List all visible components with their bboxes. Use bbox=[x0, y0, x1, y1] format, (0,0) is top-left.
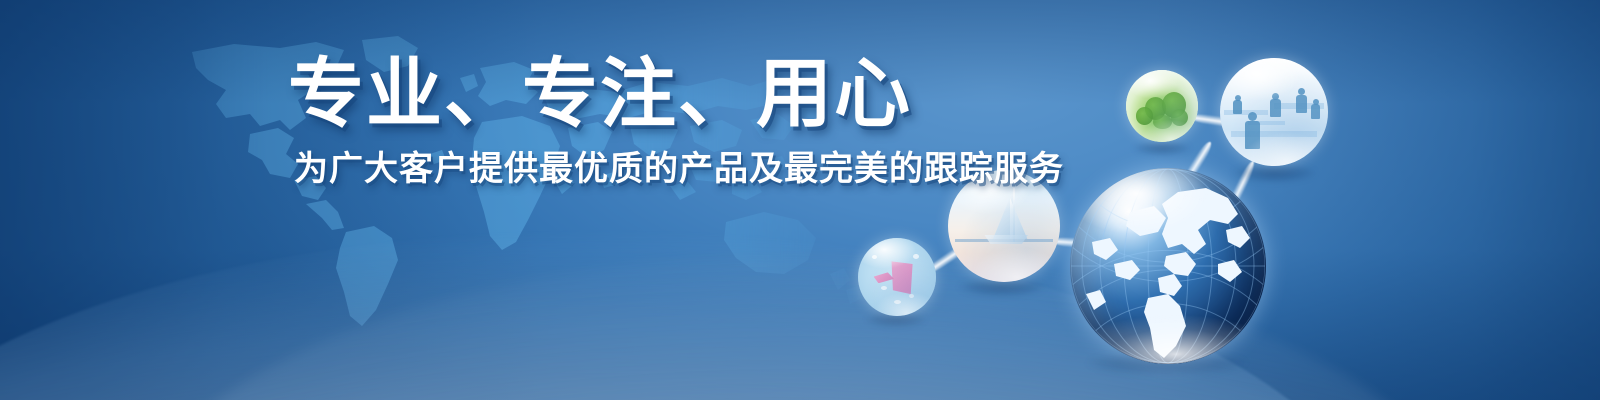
banner-headline: 专业、专注、用心 bbox=[288, 52, 1048, 138]
person-head bbox=[1248, 112, 1257, 121]
team-sphere-content bbox=[1220, 58, 1328, 166]
tree-icon bbox=[1171, 109, 1188, 126]
nature-sphere-content bbox=[1126, 70, 1198, 142]
map-speck bbox=[913, 254, 919, 259]
region-map-highlight-tail bbox=[874, 272, 894, 283]
person-body bbox=[1296, 95, 1307, 113]
team-sphere bbox=[1220, 58, 1328, 166]
person-body bbox=[1233, 100, 1242, 114]
tree-icon bbox=[1136, 107, 1153, 124]
office-slab bbox=[1231, 131, 1317, 136]
map-speck bbox=[881, 286, 887, 290]
banner-copy: 专业、专注、用心 为广大客户提供最优质的产品及最完美的跟踪服务 bbox=[288, 52, 1048, 192]
map-speck bbox=[872, 255, 877, 259]
main-globe-sphere bbox=[1070, 168, 1266, 364]
hull-shape bbox=[982, 235, 1031, 244]
shrub-icon bbox=[1153, 115, 1172, 129]
mast-shape bbox=[1013, 188, 1015, 242]
company-promo-banner: 专业、专注、用心 为广大客户提供最优质的产品及最完美的跟踪服务 bbox=[0, 0, 1600, 400]
map-speck bbox=[909, 294, 914, 298]
region-map-sphere bbox=[858, 238, 936, 316]
person-body bbox=[1311, 104, 1320, 119]
map-speck bbox=[894, 300, 901, 304]
banner-subline: 为广大客户提供最优质的产品及最完美的跟踪服务 bbox=[294, 146, 1048, 192]
region-map-sphere-content bbox=[858, 238, 936, 316]
person-body bbox=[1245, 121, 1260, 149]
office-slab bbox=[1224, 110, 1267, 115]
nature-sphere bbox=[1126, 70, 1198, 142]
person-body bbox=[1270, 99, 1281, 117]
